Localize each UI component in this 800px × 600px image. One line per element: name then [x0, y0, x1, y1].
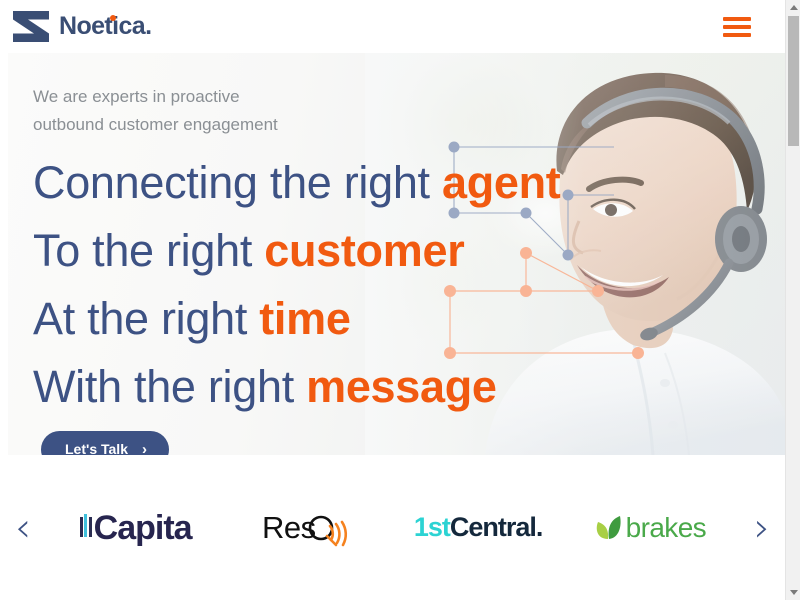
chevron-right-icon: ›	[142, 442, 147, 456]
brakes-logo: brakes	[593, 513, 706, 543]
capita-logo: Capita	[80, 511, 192, 545]
carousel-logo-resq[interactable]: Res	[221, 487, 392, 569]
headline-highlight: agent	[442, 157, 561, 208]
client-logo-carousel: ‹ Capita Res	[0, 455, 785, 600]
hero-headline-line-1: Connecting the right agent	[33, 159, 633, 207]
hero-eyebrow-line-1: We are experts in proactive	[33, 83, 633, 111]
1stcentral-prefix: 1st	[414, 512, 450, 542]
headline-plain: To the right	[33, 225, 264, 276]
logo-text-label: Noetica.	[59, 12, 151, 40]
headline-highlight: time	[259, 293, 350, 344]
carousel-logo-1stcentral[interactable]: 1stCentral.	[393, 487, 564, 569]
carousel-next-button[interactable]: ›	[739, 508, 785, 548]
1stcentral-wordmark: Central.	[450, 512, 543, 542]
lets-talk-button[interactable]: Let's Talk ›	[41, 431, 169, 455]
hamburger-bar	[723, 33, 751, 37]
noetica-z-mark-icon	[12, 10, 50, 43]
carousel-track: Capita Res 1stCentral.	[46, 487, 739, 569]
carousel-logo-brakes[interactable]: brakes	[564, 487, 735, 569]
headline-highlight: customer	[264, 225, 464, 276]
hero-section: We are experts in proactive outbound cus…	[8, 53, 785, 455]
headline-plain: Connecting the right	[33, 157, 442, 208]
hero-headline-line-3: At the right time	[33, 295, 633, 343]
lets-talk-label: Let's Talk	[65, 441, 128, 455]
hamburger-menu-icon[interactable]	[723, 17, 751, 37]
1stcentral-logo: 1stCentral.	[414, 514, 543, 541]
scroll-up-arrow-icon[interactable]	[786, 0, 800, 15]
carousel-logo-capita[interactable]: Capita	[50, 487, 221, 569]
carousel-prev-button[interactable]: ‹	[0, 508, 46, 548]
browser-viewport: Noetica.	[0, 0, 785, 600]
hero-eyebrow-line-2: outbound customer engagement	[33, 111, 633, 139]
headline-highlight: message	[306, 361, 497, 412]
leaf-icon	[593, 513, 623, 543]
hero-headline-line-2: To the right customer	[33, 227, 633, 275]
browser-scrollbar[interactable]	[785, 0, 800, 600]
resq-logo: Res	[262, 507, 352, 548]
page-root: Noetica.	[0, 0, 800, 600]
hamburger-bar	[723, 25, 751, 29]
site-logo[interactable]: Noetica.	[12, 10, 151, 43]
hamburger-bar	[723, 17, 751, 21]
q-signal-arcs-icon	[306, 512, 352, 548]
hero-headline-line-4: With the right message	[33, 363, 633, 411]
headline-plain: At the right	[33, 293, 259, 344]
capita-bars-icon	[80, 514, 92, 537]
capita-wordmark: Capita	[94, 511, 192, 545]
scrollbar-thumb[interactable]	[788, 16, 799, 146]
site-header: Noetica.	[0, 0, 785, 53]
hero-copy: We are experts in proactive outbound cus…	[33, 83, 633, 411]
headline-plain: With the right	[33, 361, 306, 412]
logo-wordmark: Noetica.	[59, 14, 151, 39]
scroll-down-arrow-icon[interactable]	[786, 585, 800, 600]
brakes-wordmark: brakes	[626, 514, 706, 542]
logo-orange-dot-icon	[110, 15, 116, 21]
